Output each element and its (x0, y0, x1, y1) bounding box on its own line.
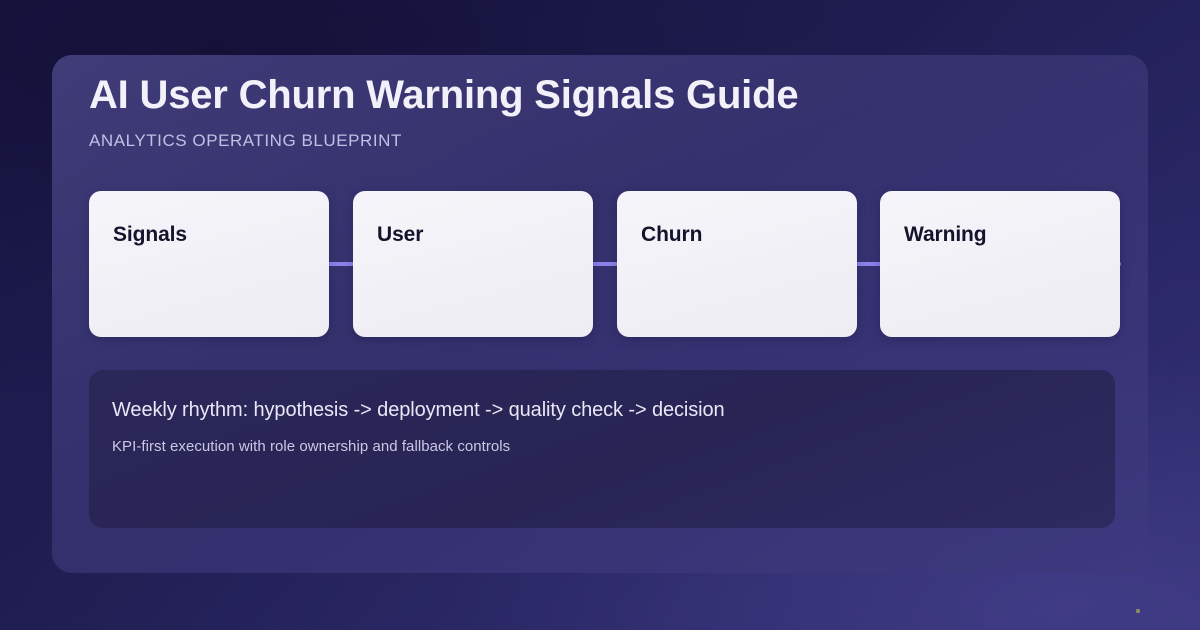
footer-summary-panel: Weekly rhythm: hypothesis -> deployment … (89, 370, 1115, 528)
header-block: AI User Churn Warning Signals Guide ANAL… (89, 72, 1111, 152)
footer-primary-text: Weekly rhythm: hypothesis -> deployment … (112, 398, 725, 423)
flow-step-label: User (377, 222, 423, 247)
footer-secondary-text: KPI-first execution with role ownership … (112, 438, 510, 457)
main-content-panel: AI User Churn Warning Signals Guide ANAL… (52, 55, 1148, 573)
page-title: AI User Churn Warning Signals Guide (89, 72, 1111, 119)
flow-step-card-warning[interactable]: Warning (880, 191, 1120, 337)
flow-step-label: Signals (113, 222, 187, 247)
flow-diagram-row: User Churn Warning Signals (89, 191, 1121, 337)
flow-step-card-signals[interactable]: Signals (89, 191, 329, 337)
page-subtitle: ANALYTICS OPERATING BLUEPRINT (89, 131, 1111, 151)
flow-step-label: Churn (641, 222, 702, 247)
flow-step-label: Warning (904, 222, 987, 247)
corner-marker-dot (1136, 609, 1140, 613)
flow-step-card-user[interactable]: User (353, 191, 593, 337)
flow-step-card-churn[interactable]: Churn (617, 191, 857, 337)
